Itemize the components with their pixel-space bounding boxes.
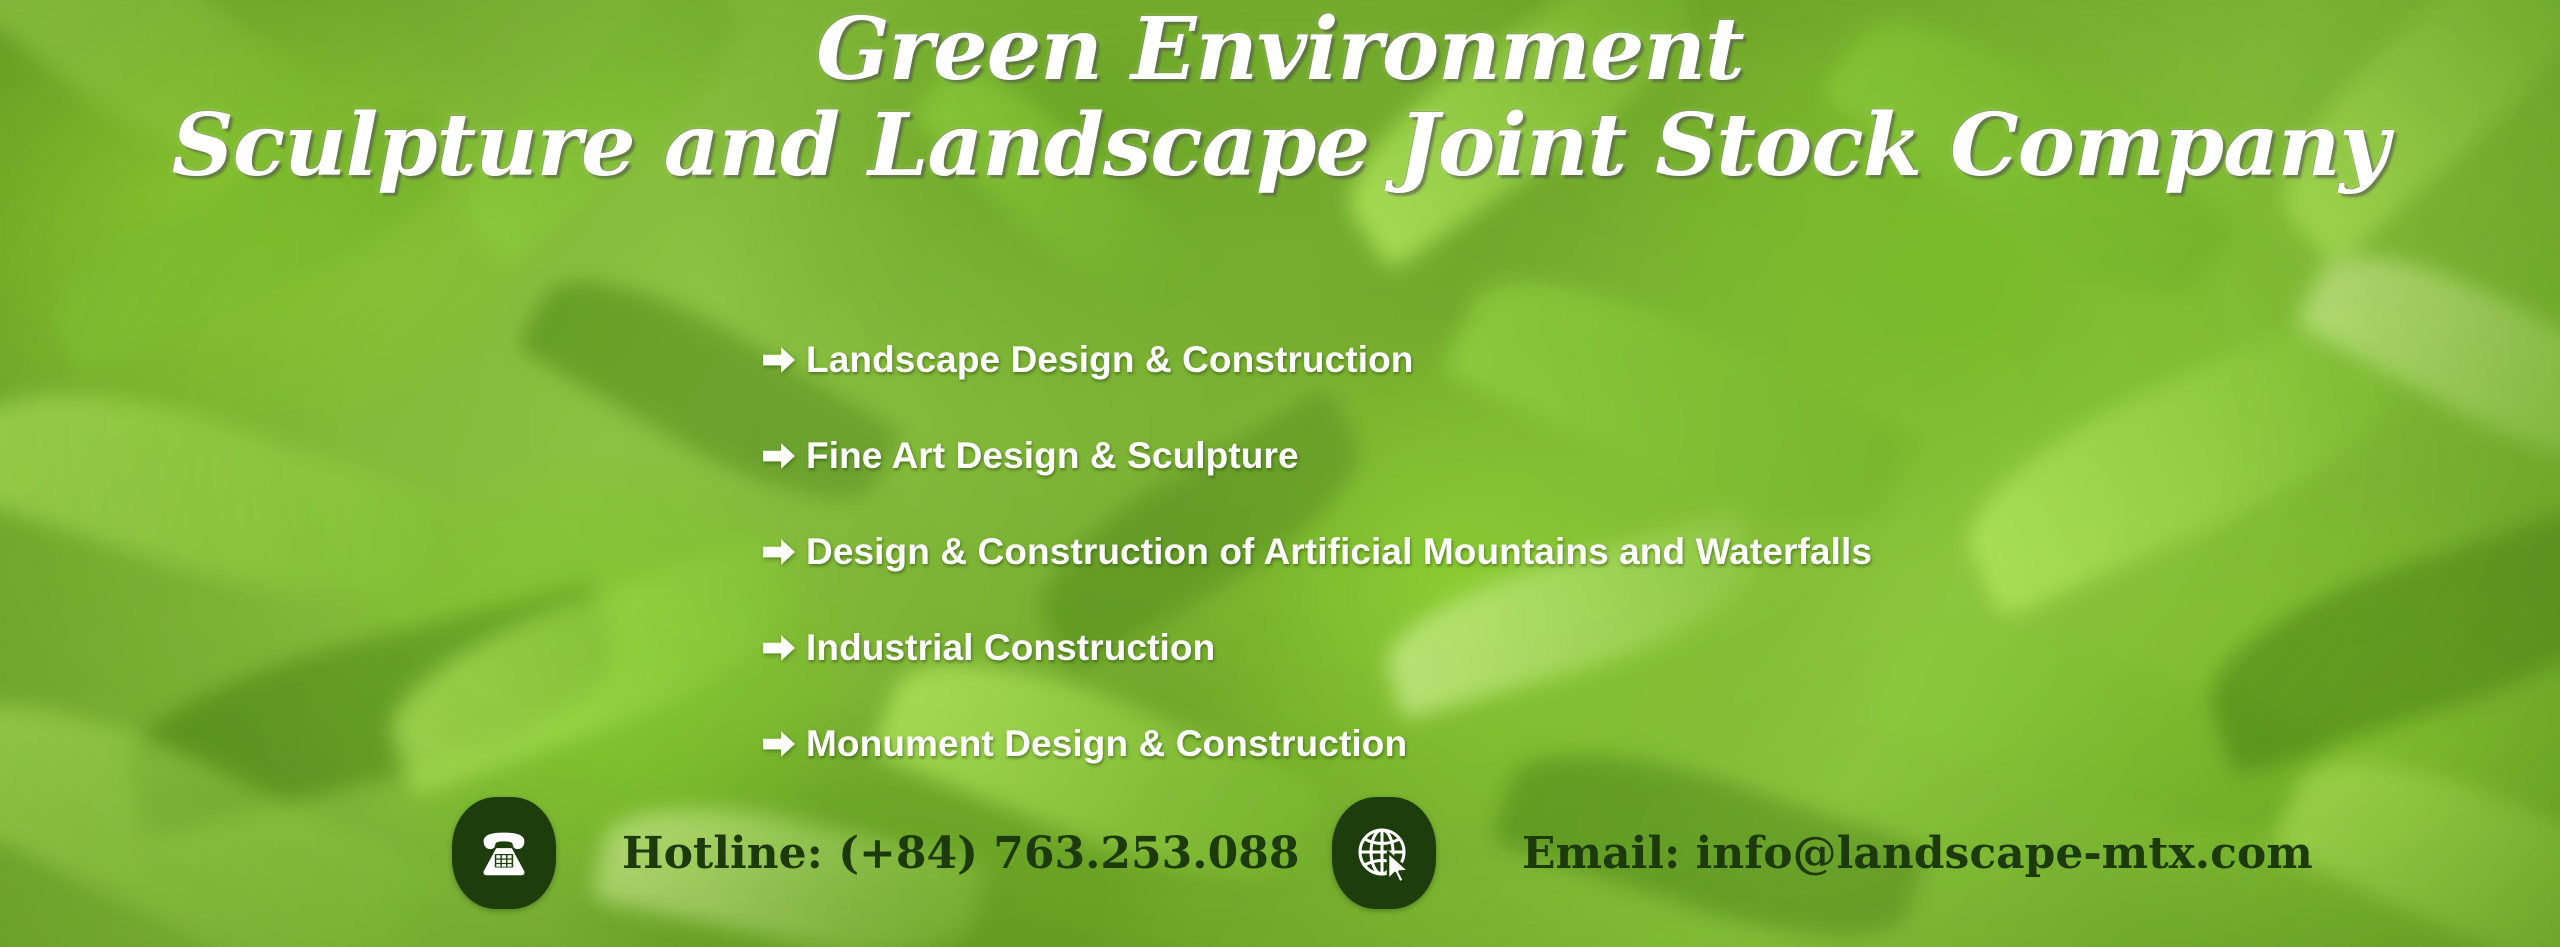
- service-item-fine-art-design: Fine Art Design & Sculpture: [762, 408, 1872, 504]
- company-title-line-1: Green Environment: [0, 6, 2560, 94]
- arrow-right-icon: [762, 631, 796, 665]
- company-title-line-2: Sculpture and Landscape Joint Stock Comp…: [0, 102, 2560, 190]
- company-title-block: Green Environment Sculpture and Landscap…: [0, 0, 2560, 189]
- globe-cursor-icon: [1352, 821, 1416, 885]
- service-label: Design & Construction of Artificial Moun…: [806, 531, 1872, 573]
- email-text: Email: info@landscape-mtx.com: [1522, 828, 2313, 879]
- service-item-monument-design: Monument Design & Construction: [762, 696, 1872, 792]
- contact-hotline[interactable]: Hotline: (+84) 763.253.088: [452, 797, 1299, 909]
- telephone-icon: [473, 822, 535, 884]
- arrow-right-icon: [762, 535, 796, 569]
- service-label: Industrial Construction: [806, 627, 1215, 669]
- arrow-right-icon: [762, 343, 796, 377]
- telephone-icon-badge: [452, 797, 556, 909]
- contact-email[interactable]: Email: info@landscape-mtx.com: [1332, 797, 2313, 909]
- service-label: Monument Design & Construction: [806, 723, 1407, 765]
- arrow-right-icon: [762, 439, 796, 473]
- banner-content: Green Environment Sculpture and Landscap…: [0, 0, 2560, 947]
- globe-cursor-icon-badge: [1332, 797, 1436, 909]
- contact-row: Hotline: (+84) 763.253.088: [0, 795, 2560, 915]
- hotline-text: Hotline: (+84) 763.253.088: [622, 828, 1299, 879]
- service-item-landscape-design: Landscape Design & Construction: [762, 312, 1872, 408]
- green-environment-banner: Green Environment Sculpture and Landscap…: [0, 0, 2560, 947]
- arrow-right-icon: [762, 727, 796, 761]
- service-item-industrial-construction: Industrial Construction: [762, 600, 1872, 696]
- service-label: Fine Art Design & Sculpture: [806, 435, 1299, 477]
- service-item-artificial-mountains: Design & Construction of Artificial Moun…: [762, 504, 1872, 600]
- service-label: Landscape Design & Construction: [806, 339, 1414, 381]
- services-list: Landscape Design & Construction Fine Art…: [762, 312, 1872, 792]
